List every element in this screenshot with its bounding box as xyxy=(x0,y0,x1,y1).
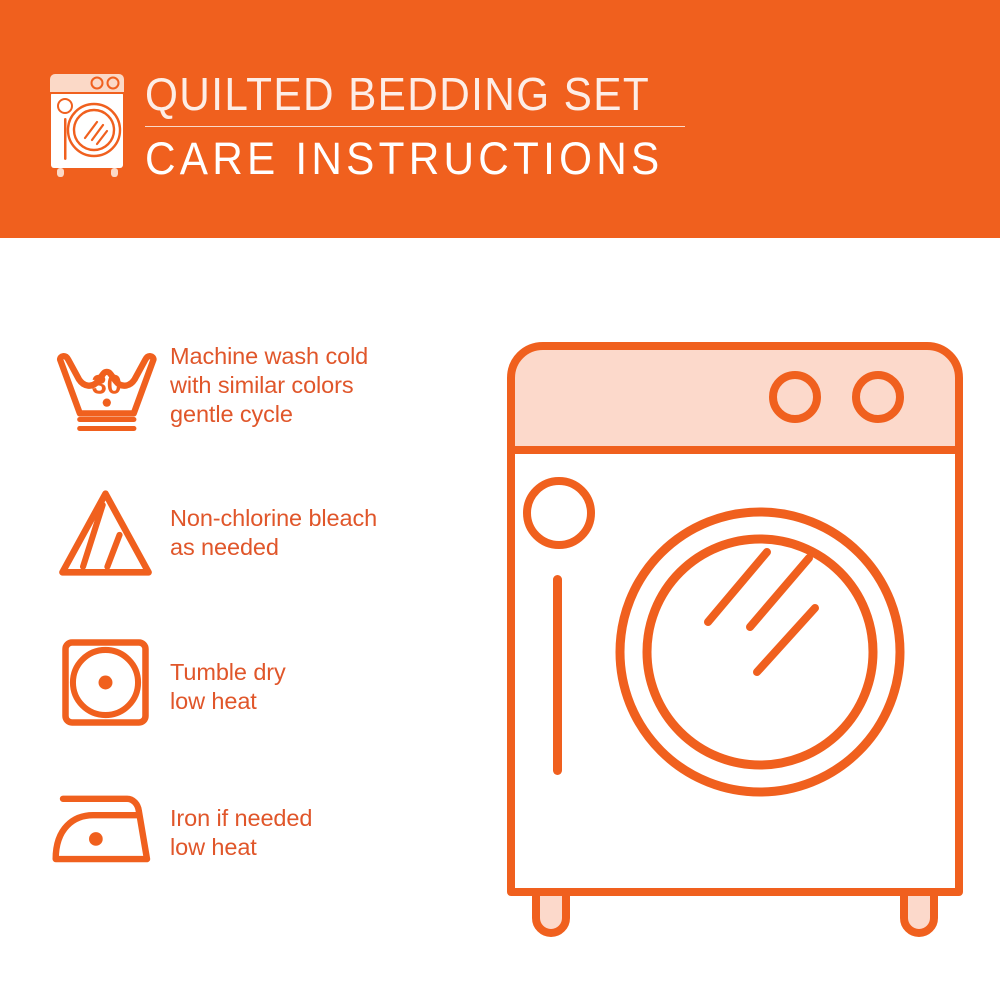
care-row-tumble-dry: Tumble dry low heat xyxy=(40,636,470,729)
care-line: Machine wash cold xyxy=(170,342,470,371)
care-text-iron: Iron if needed low heat xyxy=(170,786,470,862)
care-instruction-list: 30 Machine wash cold with similar colors… xyxy=(0,238,470,1000)
care-line: with similar colors xyxy=(170,371,470,400)
care-line: gentle cycle xyxy=(170,400,470,429)
care-line: as needed xyxy=(170,533,470,562)
care-line: Non-chlorine bleach xyxy=(170,504,470,533)
leg-right xyxy=(904,892,934,933)
washing-machine-illustration xyxy=(495,330,975,940)
page-title: QUILTED BEDDING SET xyxy=(145,68,660,120)
care-line: low heat xyxy=(170,833,470,862)
care-line: low heat xyxy=(170,687,470,716)
care-text-tumble-dry: Tumble dry low heat xyxy=(170,636,470,716)
leg-left xyxy=(536,892,566,933)
title-divider xyxy=(145,126,685,127)
page-subtitle: CARE INSTRUCTIONS xyxy=(145,134,671,184)
care-row-iron: Iron if needed low heat xyxy=(40,786,470,870)
tumble-dry-low-heat-icon xyxy=(40,636,170,729)
non-chlorine-bleach-triangle-icon xyxy=(40,486,170,580)
header-title-block: QUILTED BEDDING SET CARE INSTRUCTIONS xyxy=(145,68,705,184)
wash-temperature-label: 30 xyxy=(92,370,122,400)
iron-low-heat-icon xyxy=(40,786,170,870)
care-text-bleach: Non-chlorine bleach as needed xyxy=(170,486,470,562)
care-row-machine-wash: 30 Machine wash cold with similar colors… xyxy=(40,338,470,435)
wash-tub-30-gentle-icon: 30 xyxy=(40,338,170,435)
care-line: Iron if needed xyxy=(170,804,470,833)
care-text-machine-wash: Machine wash cold with similar colors ge… xyxy=(170,338,470,429)
status-bar xyxy=(553,575,562,775)
care-row-bleach: Non-chlorine bleach as needed xyxy=(40,486,470,580)
header-banner: QUILTED BEDDING SET CARE INSTRUCTIONS xyxy=(0,0,1000,238)
care-line: Tumble dry xyxy=(170,658,470,687)
control-panel xyxy=(511,346,959,450)
washing-machine-icon xyxy=(45,70,137,178)
